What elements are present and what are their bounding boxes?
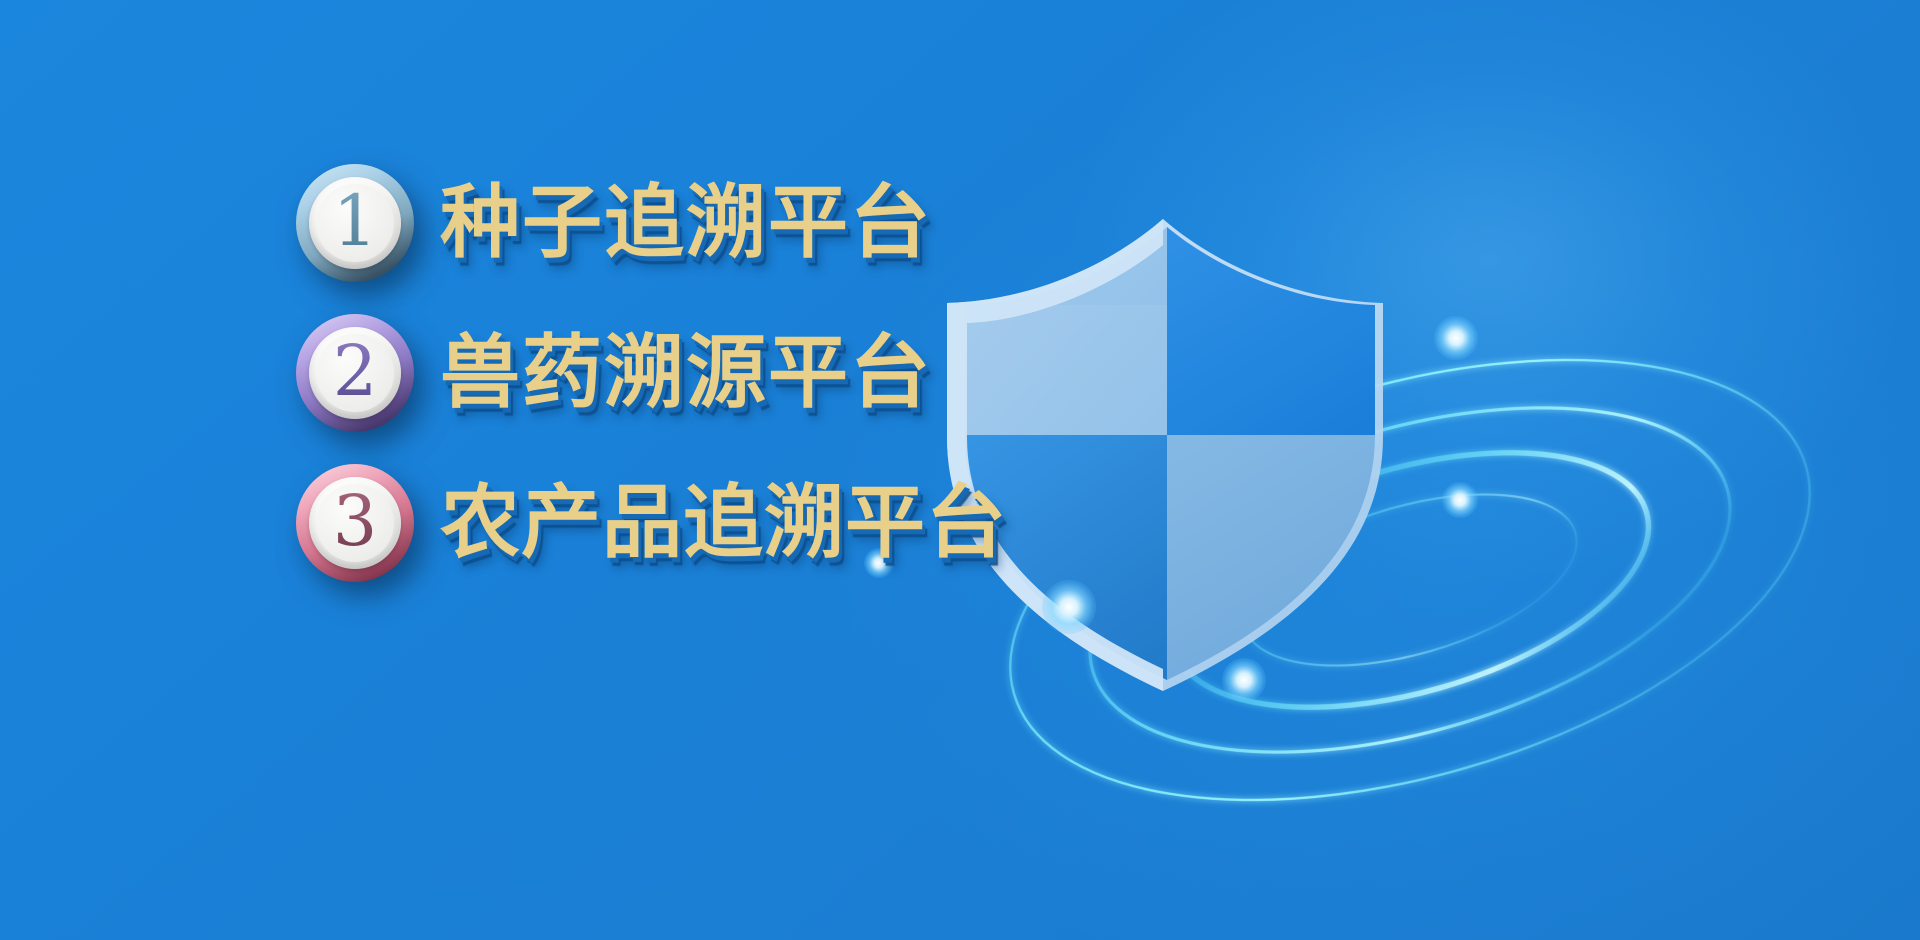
- platform-list: 1 种子追溯平台 2 兽药溯源平台 3 农产品追溯平台: [296, 148, 1076, 598]
- platform-label: 兽药溯源平台: [440, 333, 932, 413]
- badge-one[interactable]: 1: [296, 164, 414, 282]
- list-item[interactable]: 2 兽药溯源平台: [296, 298, 1076, 448]
- badge-three[interactable]: 3: [296, 464, 414, 582]
- badge-number: 2: [333, 336, 378, 410]
- badge-number: 3: [333, 486, 378, 560]
- list-item[interactable]: 3 农产品追溯平台: [296, 448, 1076, 598]
- platform-label: 农产品追溯平台: [440, 483, 1007, 563]
- badge-two[interactable]: 2: [296, 314, 414, 432]
- badge-number: 1: [333, 186, 378, 260]
- list-item[interactable]: 1 种子追溯平台: [296, 148, 1076, 298]
- banner-canvas: 1 种子追溯平台 2 兽药溯源平台 3 农产品追溯平台: [0, 0, 1920, 940]
- platform-label: 种子追溯平台: [440, 183, 932, 263]
